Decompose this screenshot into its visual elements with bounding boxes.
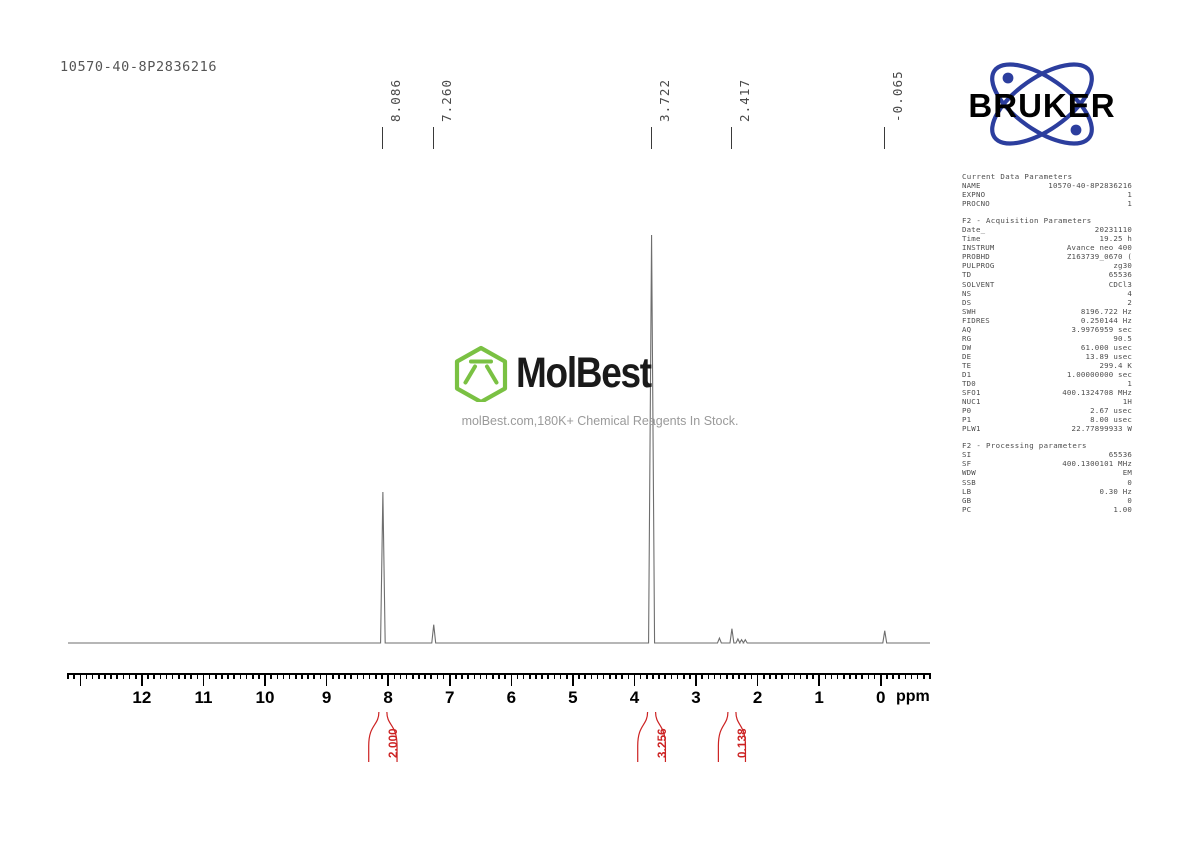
axis-minor-tick	[560, 673, 562, 679]
param-key: LB	[962, 487, 971, 496]
axis-minor-tick	[861, 673, 863, 679]
bruker-logo: BRUKER	[952, 52, 1132, 164]
axis-minor-tick	[788, 673, 790, 679]
axis-minor-tick	[394, 673, 396, 679]
axis-minor-tick	[190, 673, 192, 679]
axis-minor-tick	[92, 673, 94, 679]
axis-minor-tick	[289, 673, 291, 679]
param-key: AQ	[962, 325, 971, 334]
param-row: SF400.1300101 MHz	[962, 459, 1132, 468]
axis-minor-tick	[400, 673, 402, 679]
axis-minor-tick	[492, 673, 494, 679]
param-row: WDWEM	[962, 468, 1132, 477]
axis-minor-tick	[418, 673, 420, 679]
param-row: TD65536	[962, 270, 1132, 279]
axis-minor-tick	[892, 673, 894, 679]
param-key: P1	[962, 415, 971, 424]
axis-major-tick	[634, 673, 636, 686]
param-value: 65536	[1109, 270, 1132, 279]
param-value: 1.00	[1113, 505, 1132, 514]
axis-minor-tick	[720, 673, 722, 679]
param-value: 4	[1127, 289, 1132, 298]
param-row: PC1.00	[962, 505, 1132, 514]
param-key: PLW1	[962, 424, 981, 433]
param-section-heading: F2 - Acquisition Parameters	[962, 216, 1132, 225]
param-key: EXPNO	[962, 190, 985, 199]
axis-minor-tick	[855, 673, 857, 679]
axis-minor-tick	[529, 673, 531, 679]
axis-major-tick	[449, 673, 451, 686]
axis-minor-tick	[98, 673, 100, 679]
param-section-gap	[962, 208, 1132, 216]
peak-marker-tick	[884, 127, 885, 149]
param-key: TD	[962, 270, 971, 279]
param-row: PULPROGzg30	[962, 261, 1132, 270]
param-value: 2.67 usec	[1090, 406, 1132, 415]
axis-minor-tick	[843, 673, 845, 679]
param-key: SFO1	[962, 388, 981, 397]
axis-minor-tick	[455, 673, 457, 679]
param-row: Time19.25 h	[962, 234, 1132, 243]
param-key: NUC1	[962, 397, 981, 406]
nmr-spectrum-page: 10570-40-8P2836216 8.0867.2603.7222.417-…	[0, 0, 1190, 842]
axis-minor-tick	[135, 673, 137, 679]
axis-minor-tick	[221, 673, 223, 679]
param-value: 20231110	[1095, 225, 1132, 234]
bruker-orbit-dot-top	[1003, 73, 1014, 84]
axis-major-tick	[511, 673, 513, 686]
axis-minor-tick	[825, 673, 827, 679]
param-row: SOLVENTCDCl3	[962, 280, 1132, 289]
axis-minor-tick	[615, 673, 617, 679]
axis-minor-tick	[443, 673, 445, 679]
axis-minor-tick	[73, 673, 75, 679]
param-value: 0.30 Hz	[1099, 487, 1132, 496]
integral-value: 2.000	[388, 728, 400, 758]
param-value: Z163739_0670 (	[1067, 252, 1132, 261]
axis-minor-tick	[461, 673, 463, 679]
axis-minor-tick	[726, 673, 728, 679]
axis-minor-tick	[591, 673, 593, 679]
param-key: SF	[962, 459, 971, 468]
axis-tick-label: 1	[814, 688, 823, 708]
peak-marker-tick	[651, 127, 652, 149]
param-value: 90.5	[1113, 334, 1132, 343]
param-value: Avance neo 400	[1067, 243, 1132, 252]
axis-minor-tick	[166, 673, 168, 679]
param-value: 400.1324708 MHz	[1062, 388, 1132, 397]
param-key: SOLVENT	[962, 280, 995, 289]
param-section-gap	[962, 433, 1132, 441]
axis-minor-tick	[350, 673, 352, 679]
param-row: NAME10570-40-8P2836216	[962, 181, 1132, 190]
axis-minor-tick	[886, 673, 888, 679]
param-value: 19.25 h	[1099, 234, 1132, 243]
param-key: Time	[962, 234, 981, 243]
peak-shift-label: 3.722	[657, 79, 672, 122]
axis-minor-tick	[430, 673, 432, 679]
axis-minor-tick	[781, 673, 783, 679]
axis-minor-tick	[689, 673, 691, 679]
axis-major-tick	[757, 673, 759, 686]
axis-minor-tick	[406, 673, 408, 679]
watermark-brand: MolBest	[516, 349, 651, 398]
param-key: P0	[962, 406, 971, 415]
axis-minor-tick	[566, 673, 568, 679]
param-row: NUC11H	[962, 397, 1132, 406]
axis-minor-tick	[658, 673, 660, 679]
param-value: CDCl3	[1109, 280, 1132, 289]
molbest-watermark: MolBest molBest.com,180K+ Chemical Reage…	[440, 340, 760, 440]
axis-minor-tick	[123, 673, 125, 679]
axis-minor-tick	[837, 673, 839, 679]
bruker-orbit-dot-bottom	[1071, 125, 1082, 136]
axis-minor-tick	[277, 673, 279, 679]
axis-minor-tick	[751, 673, 753, 679]
param-value: 1.00000000 sec	[1067, 370, 1132, 379]
axis-minor-tick	[812, 673, 814, 679]
axis-minor-tick	[498, 673, 500, 679]
axis-minor-tick	[363, 673, 365, 679]
axis-minor-tick	[283, 673, 285, 679]
axis-minor-tick	[147, 673, 149, 679]
axis-minor-tick	[246, 673, 248, 679]
axis-minor-tick	[917, 673, 919, 679]
axis-tick-label: 10	[256, 688, 275, 708]
param-value: 1	[1127, 379, 1132, 388]
axis-minor-tick	[794, 673, 796, 679]
watermark-logo-row: MolBest	[450, 344, 673, 402]
param-row: NS4	[962, 289, 1132, 298]
axis-minor-tick	[578, 673, 580, 679]
param-key: PULPROG	[962, 261, 995, 270]
axis-minor-tick	[369, 673, 371, 679]
param-key: TD0	[962, 379, 976, 388]
param-row: SSB0	[962, 478, 1132, 487]
param-key: NS	[962, 289, 971, 298]
peak-shift-label: 7.260	[439, 79, 454, 122]
param-row: DW61.000 usec	[962, 343, 1132, 352]
axis-minor-tick	[67, 673, 69, 679]
axis-minor-tick	[831, 673, 833, 679]
axis-minor-tick	[800, 673, 802, 679]
axis-tick-label: 9	[322, 688, 331, 708]
axis-minor-tick	[664, 673, 666, 679]
param-row: TE299.4 K	[962, 361, 1132, 370]
axis-major-tick	[80, 673, 82, 686]
param-row: TD01	[962, 379, 1132, 388]
param-key: PC	[962, 505, 971, 514]
param-row: PROCNO1	[962, 199, 1132, 208]
axis-minor-tick	[517, 673, 519, 679]
param-row: D11.00000000 sec	[962, 370, 1132, 379]
axis-major-tick	[572, 673, 574, 686]
axis-minor-tick	[701, 673, 703, 679]
peak-shift-label: 8.086	[388, 79, 403, 122]
axis-minor-tick	[104, 673, 106, 679]
param-value: 400.1300101 MHz	[1062, 459, 1132, 468]
axis-minor-tick	[381, 673, 383, 679]
axis-tick-label: 3	[691, 688, 700, 708]
param-key: D1	[962, 370, 971, 379]
param-key: SI	[962, 450, 971, 459]
axis-minor-tick	[486, 673, 488, 679]
axis-minor-tick	[344, 673, 346, 679]
param-value: 8.00 usec	[1090, 415, 1132, 424]
axis-minor-tick	[110, 673, 112, 679]
param-row: FIDRES0.250144 Hz	[962, 316, 1132, 325]
axis-minor-tick	[153, 673, 155, 679]
axis-tick-label: 4	[630, 688, 639, 708]
axis-minor-tick	[640, 673, 642, 679]
param-key: FIDRES	[962, 316, 990, 325]
axis-minor-tick	[424, 673, 426, 679]
axis-tick-label: 0	[876, 688, 885, 708]
param-key: INSTRUM	[962, 243, 995, 252]
hexagon-icon	[450, 344, 512, 402]
axis-minor-tick	[609, 673, 611, 679]
param-value: 13.89 usec	[1086, 352, 1133, 361]
peak-marker-tick	[382, 127, 383, 149]
param-key: DS	[962, 298, 971, 307]
axis-minor-tick	[209, 673, 211, 679]
param-value: 2	[1127, 298, 1132, 307]
axis-minor-tick	[738, 673, 740, 679]
param-row: P18.00 usec	[962, 415, 1132, 424]
axis-minor-tick	[621, 673, 623, 679]
param-key: GB	[962, 496, 971, 505]
axis-major-tick	[880, 673, 882, 686]
param-row: GB0	[962, 496, 1132, 505]
param-value: 8196.722 Hz	[1081, 307, 1132, 316]
axis-minor-tick	[874, 673, 876, 679]
param-key: PROCNO	[962, 199, 990, 208]
peak-shift-label: -0.065	[890, 70, 905, 122]
axis-minor-tick	[233, 673, 235, 679]
axis-minor-tick	[332, 673, 334, 679]
param-value: 0	[1127, 478, 1132, 487]
ppm-axis: 1211109876543210 ppm	[0, 664, 1190, 714]
axis-minor-tick	[129, 673, 131, 679]
param-key: NAME	[962, 181, 981, 190]
param-value: 22.77899933 W	[1072, 424, 1132, 433]
axis-minor-tick	[467, 673, 469, 679]
axis-minor-tick	[523, 673, 525, 679]
axis-tick-label: 5	[568, 688, 577, 708]
axis-minor-tick	[683, 673, 685, 679]
axis-minor-tick	[160, 673, 162, 679]
axis-minor-tick	[806, 673, 808, 679]
axis-minor-tick	[178, 673, 180, 679]
axis-tick-label: 12	[132, 688, 151, 708]
axis-minor-tick	[86, 673, 88, 679]
param-value: 1H	[1123, 397, 1132, 406]
param-value: zg30	[1113, 261, 1132, 270]
axis-tick-label: 2	[753, 688, 762, 708]
axis-minor-tick	[116, 673, 118, 679]
integral-value: 3.256	[657, 728, 669, 758]
param-section-heading: Current Data Parameters	[962, 172, 1132, 181]
axis-minor-tick	[775, 673, 777, 679]
axis-minor-tick	[474, 673, 476, 679]
bruker-wordmark: BRUKER	[968, 87, 1115, 124]
axis-minor-tick	[763, 673, 765, 679]
axis-minor-tick	[628, 673, 630, 679]
axis-major-tick	[141, 673, 143, 686]
axis-minor-tick	[320, 673, 322, 679]
axis-minor-tick	[270, 673, 272, 679]
param-value: 61.000 usec	[1081, 343, 1132, 352]
parameter-panel: Current Data ParametersNAME10570-40-8P28…	[962, 172, 1132, 514]
axis-minor-tick	[437, 673, 439, 679]
param-key: RG	[962, 334, 971, 343]
watermark-tagline: molBest.com,180K+ Chemical Reagents In S…	[444, 414, 756, 428]
integral-value: 0.138	[737, 728, 749, 758]
axis-minor-tick	[911, 673, 913, 679]
axis-minor-tick	[301, 673, 303, 679]
axis-minor-tick	[541, 673, 543, 679]
axis-minor-tick	[923, 673, 925, 679]
param-key: DE	[962, 352, 971, 361]
axis-minor-tick	[357, 673, 359, 679]
param-row: Date_20231110	[962, 225, 1132, 234]
axis-minor-tick	[905, 673, 907, 679]
param-value: 0.250144 Hz	[1081, 316, 1132, 325]
axis-minor-tick	[677, 673, 679, 679]
axis-major-tick	[695, 673, 697, 686]
param-value: 10570-40-8P2836216	[1048, 181, 1132, 190]
param-row: DE13.89 usec	[962, 352, 1132, 361]
axis-minor-tick	[227, 673, 229, 679]
axis-major-tick	[387, 673, 389, 686]
axis-minor-tick	[929, 673, 931, 679]
axis-minor-tick	[375, 673, 377, 679]
param-row: SWH8196.722 Hz	[962, 307, 1132, 316]
param-key: DW	[962, 343, 971, 352]
axis-minor-tick	[295, 673, 297, 679]
axis-minor-tick	[603, 673, 605, 679]
axis-minor-tick	[252, 673, 254, 679]
axis-minor-tick	[646, 673, 648, 679]
axis-minor-tick	[671, 673, 673, 679]
param-row: SFO1400.1324708 MHz	[962, 388, 1132, 397]
axis-minor-tick	[744, 673, 746, 679]
axis-tick-label: 11	[194, 688, 212, 708]
axis-minor-tick	[554, 673, 556, 679]
param-row: PROBHDZ163739_0670 (	[962, 252, 1132, 261]
axis-minor-tick	[535, 673, 537, 679]
param-row: AQ3.9976959 sec	[962, 325, 1132, 334]
param-value: 65536	[1109, 450, 1132, 459]
param-row: INSTRUMAvance neo 400	[962, 243, 1132, 252]
peak-marker-tick	[731, 127, 732, 149]
param-row: RG90.5	[962, 334, 1132, 343]
axis-minor-tick	[868, 673, 870, 679]
param-key: PROBHD	[962, 252, 990, 261]
axis-minor-tick	[849, 673, 851, 679]
axis-minor-tick	[898, 673, 900, 679]
axis-minor-tick	[258, 673, 260, 679]
axis-minor-tick	[184, 673, 186, 679]
param-value: 299.4 K	[1099, 361, 1132, 370]
axis-minor-tick	[172, 673, 174, 679]
param-row: PLW122.77899933 W	[962, 424, 1132, 433]
param-key: WDW	[962, 468, 976, 477]
axis-tick-label: 8	[383, 688, 392, 708]
axis-minor-tick	[412, 673, 414, 679]
param-section-heading: F2 - Processing parameters	[962, 441, 1132, 450]
param-row: P02.67 usec	[962, 406, 1132, 415]
axis-minor-tick	[547, 673, 549, 679]
axis-major-tick	[326, 673, 328, 686]
axis-minor-tick	[584, 673, 586, 679]
param-value: 3.9976959 sec	[1072, 325, 1132, 334]
axis-major-tick	[203, 673, 205, 686]
peak-shift-label: 2.417	[737, 79, 752, 122]
axis-minor-tick	[504, 673, 506, 679]
axis-major-tick	[818, 673, 820, 686]
param-key: Date_	[962, 225, 985, 234]
param-row: SI65536	[962, 450, 1132, 459]
axis-minor-tick	[215, 673, 217, 679]
axis-unit-label: ppm	[896, 688, 930, 706]
param-key: SSB	[962, 478, 976, 487]
axis-major-tick	[264, 673, 266, 686]
axis-minor-tick	[240, 673, 242, 679]
axis-minor-tick	[197, 673, 199, 679]
axis-minor-tick	[480, 673, 482, 679]
axis-minor-tick	[307, 673, 309, 679]
param-row: EXPNO1	[962, 190, 1132, 199]
param-value: 0	[1127, 496, 1132, 505]
param-key: SWH	[962, 307, 976, 316]
axis-tick-label: 6	[507, 688, 516, 708]
param-row: DS2	[962, 298, 1132, 307]
param-value: 1	[1127, 190, 1132, 199]
peak-marker-tick	[433, 127, 434, 149]
param-value: 1	[1127, 199, 1132, 208]
axis-minor-tick	[652, 673, 654, 679]
axis-tick-label: 7	[445, 688, 454, 708]
axis-minor-tick	[338, 673, 340, 679]
axis-minor-tick	[313, 673, 315, 679]
axis-minor-tick	[732, 673, 734, 679]
param-value: EM	[1123, 468, 1132, 477]
axis-minor-tick	[708, 673, 710, 679]
axis-minor-tick	[597, 673, 599, 679]
param-key: TE	[962, 361, 971, 370]
axis-minor-tick	[769, 673, 771, 679]
param-row: LB0.30 Hz	[962, 487, 1132, 496]
sample-title: 10570-40-8P2836216	[60, 59, 217, 75]
axis-minor-tick	[714, 673, 716, 679]
